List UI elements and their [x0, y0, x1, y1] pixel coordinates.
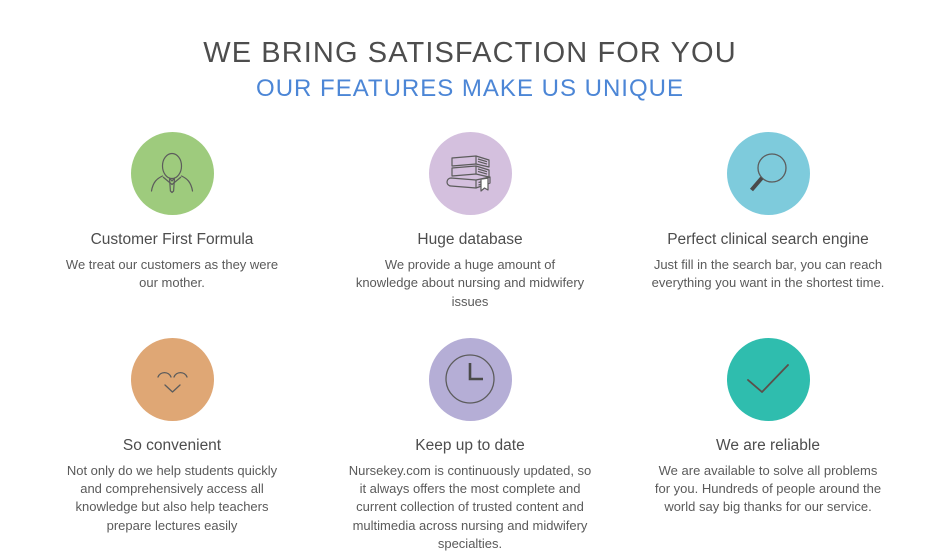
feature-icon-circle	[727, 132, 810, 215]
feature-title: Huge database	[417, 231, 522, 250]
feature-card-perfect-clinical-search-engine: Perfect clinical search engine Just fill…	[619, 132, 917, 311]
feature-icon-circle	[429, 132, 512, 215]
magnifying-glass-icon	[744, 150, 792, 198]
page-title: WE BRING SATISFACTION FOR YOU	[0, 36, 940, 70]
feature-title: We are reliable	[716, 437, 820, 456]
feature-title: Keep up to date	[415, 437, 524, 456]
page-header: WE BRING SATISFACTION FOR YOU OUR FEATUR…	[0, 0, 940, 104]
feature-description: Not only do we help students quickly and…	[56, 462, 288, 536]
feature-description: Just fill in the search bar, you can rea…	[644, 256, 892, 293]
feature-card-huge-database: Huge database We provide a huge amount o…	[321, 132, 619, 311]
feature-description: Nursekey.com is continuously updated, so…	[346, 462, 594, 554]
businessman-icon	[147, 151, 197, 197]
feature-grid: Customer First Formula We treat our cust…	[0, 132, 940, 554]
feature-title: So convenient	[123, 437, 221, 456]
feature-icon-circle	[131, 338, 214, 421]
page-subtitle: OUR FEATURES MAKE US UNIQUE	[0, 75, 940, 104]
feature-card-we-are-reliable: We are reliable We are available to solv…	[619, 338, 917, 554]
feature-description: We provide a huge amount of knowledge ab…	[354, 256, 586, 311]
feature-icon-circle	[727, 338, 810, 421]
feature-card-keep-up-to-date: Keep up to date Nursekey.com is continuo…	[321, 338, 619, 554]
checkmark-icon	[742, 359, 794, 399]
feature-card-customer-first-formula: Customer First Formula We treat our cust…	[23, 132, 321, 311]
feature-icon-circle	[131, 132, 214, 215]
smiley-face-icon	[148, 361, 196, 397]
clock-icon	[442, 351, 498, 407]
feature-description: We treat our customers as they were our …	[56, 256, 288, 293]
feature-title: Customer First Formula	[91, 231, 254, 250]
feature-description: We are available to solve all problems f…	[652, 462, 884, 517]
book-stack-icon	[445, 152, 495, 196]
feature-card-so-convenient: So convenient Not only do we help studen…	[23, 338, 321, 554]
feature-title: Perfect clinical search engine	[667, 231, 869, 250]
feature-icon-circle	[429, 338, 512, 421]
